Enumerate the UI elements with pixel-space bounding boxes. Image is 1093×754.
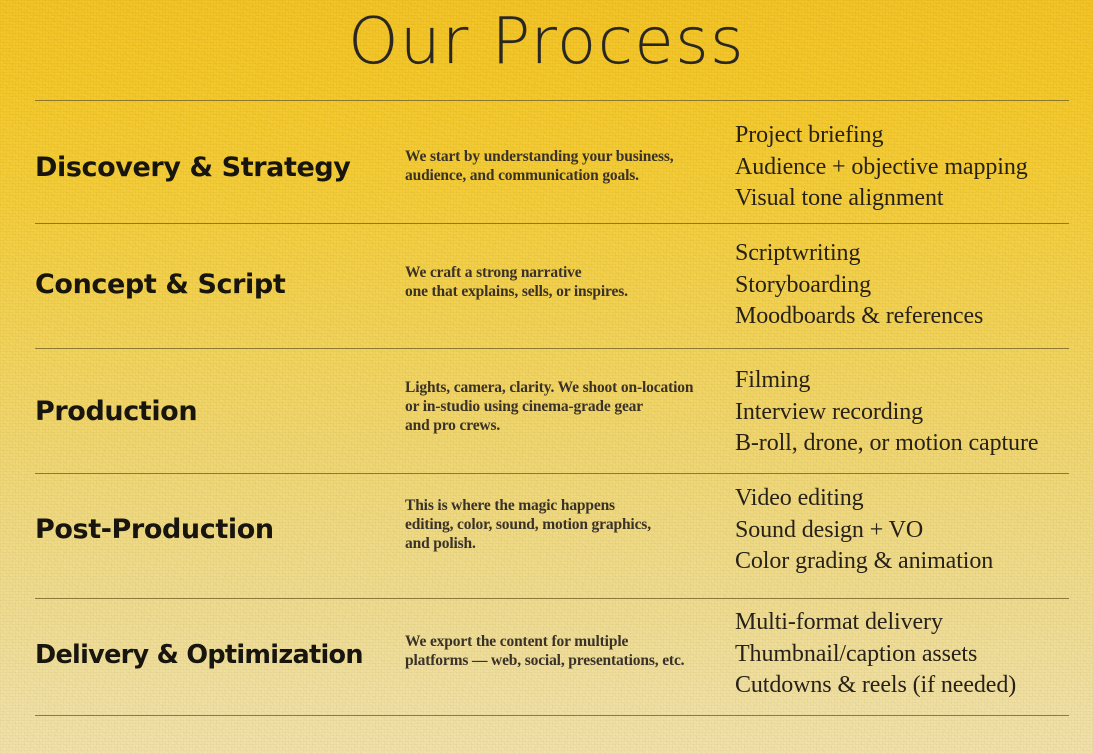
step-title-cell: Post-Production <box>35 483 405 577</box>
step-description-line: We export the content for multiple <box>405 632 721 651</box>
step-title: Delivery & Optimization <box>35 641 363 669</box>
step-deliverables-cell: Video editing Sound design + VO Color gr… <box>735 483 1069 578</box>
process-step-row: Post-Production This is where the magic … <box>35 483 1069 578</box>
deliverable-item: Visual tone alignment <box>735 183 1069 215</box>
step-title: Production <box>35 397 197 427</box>
step-title: Concept & Script <box>35 270 285 300</box>
deliverable-item: Cutdowns & reels (if needed) <box>735 670 1069 702</box>
deliverable-item: B-roll, drone, or motion capture <box>735 428 1069 460</box>
step-title-cell: Delivery & Optimization <box>35 607 405 703</box>
deliverable-item: Audience + objective mapping <box>735 152 1069 184</box>
step-deliverables-cell: Scriptwriting Storyboarding Moodboards &… <box>735 238 1069 333</box>
step-description-line: and polish. <box>405 534 721 553</box>
step-description-line: platforms — web, social, presentations, … <box>405 651 721 670</box>
step-title-cell: Production <box>35 365 405 459</box>
deliverable-item: Color grading & animation <box>735 546 1069 578</box>
step-description-line: This is where the magic happens <box>405 496 721 515</box>
step-description-line: audience, and communication goals. <box>405 166 721 185</box>
deliverable-item: Project briefing <box>735 120 1069 152</box>
step-title: Post-Production <box>35 515 274 545</box>
process-step-row: Discovery & Strategy We start by underst… <box>35 120 1069 216</box>
deliverable-item: Video editing <box>735 483 1069 515</box>
step-description-line: and pro crews. <box>405 416 721 435</box>
deliverable-item: Multi-format delivery <box>735 607 1069 639</box>
step-description-cell: We export the content for multiple platf… <box>405 607 735 670</box>
step-description-line: We start by understanding your business, <box>405 147 721 166</box>
step-title-cell: Concept & Script <box>35 238 405 332</box>
divider-top <box>35 100 1069 101</box>
step-description-line: Lights, camera, clarity. We shoot on-loc… <box>405 378 721 397</box>
divider-1 <box>35 223 1069 224</box>
divider-2 <box>35 348 1069 349</box>
step-description-line: We craft a strong narrative <box>405 263 721 282</box>
page-title: Our Process <box>0 6 1093 80</box>
divider-bottom <box>35 715 1069 716</box>
deliverable-item: Sound design + VO <box>735 515 1069 547</box>
deliverable-item: Storyboarding <box>735 270 1069 302</box>
process-step-row: Delivery & Optimization We export the co… <box>35 607 1069 703</box>
divider-4 <box>35 598 1069 599</box>
deliverable-item: Interview recording <box>735 397 1069 429</box>
process-step-row: Concept & Script We craft a strong narra… <box>35 238 1069 333</box>
step-description-line: one that explains, sells, or inspires. <box>405 282 721 301</box>
step-description-cell: This is where the magic happens editing,… <box>405 483 735 553</box>
step-title-cell: Discovery & Strategy <box>35 120 405 216</box>
step-description-line: editing, color, sound, motion graphics, <box>405 515 721 534</box>
step-deliverables-cell: Multi-format delivery Thumbnail/caption … <box>735 607 1069 702</box>
deliverable-item: Filming <box>735 365 1069 397</box>
deliverable-item: Thumbnail/caption assets <box>735 639 1069 671</box>
step-description-cell: We craft a strong narrative one that exp… <box>405 238 735 301</box>
deliverable-item: Scriptwriting <box>735 238 1069 270</box>
step-title: Discovery & Strategy <box>35 153 351 183</box>
step-description-cell: We start by understanding your business,… <box>405 120 735 185</box>
step-description-line: or in-studio using cinema-grade gear <box>405 397 721 416</box>
process-poster: Our Process Discovery & Strategy We star… <box>0 0 1093 754</box>
step-deliverables-cell: Filming Interview recording B-roll, dron… <box>735 365 1069 460</box>
divider-3 <box>35 473 1069 474</box>
deliverable-item: Moodboards & references <box>735 301 1069 333</box>
process-step-row: Production Lights, camera, clarity. We s… <box>35 365 1069 460</box>
step-deliverables-cell: Project briefing Audience + objective ma… <box>735 120 1069 215</box>
step-description-cell: Lights, camera, clarity. We shoot on-loc… <box>405 365 735 435</box>
